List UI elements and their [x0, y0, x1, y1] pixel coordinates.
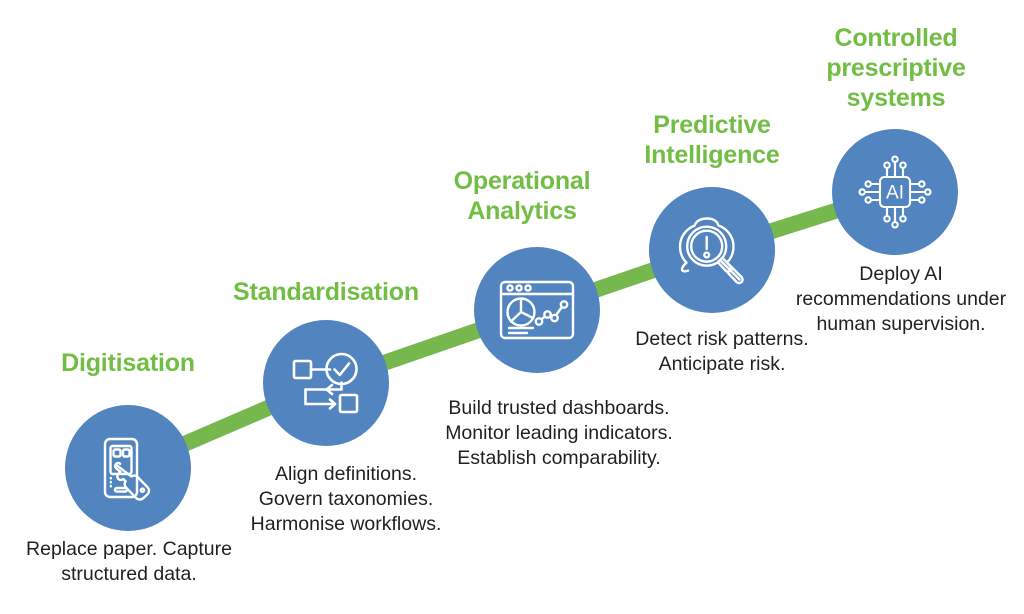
stage-5-circle[interactable]: AI	[832, 129, 958, 255]
smartphone-tap-icon	[91, 431, 165, 505]
stage-3-circle[interactable]	[474, 247, 600, 373]
maturity-staircase-diagram: Digitisation Replace paper. Capture stru…	[0, 0, 1024, 614]
dashboard-chart-icon	[497, 277, 577, 343]
ai-chip-icon: AI	[855, 152, 935, 232]
stage-4-circle[interactable]	[649, 187, 775, 313]
stage-5-heading: Controlled prescriptive systems	[810, 23, 982, 113]
stage-5-caption: Deploy AI recommendations under human su…	[790, 262, 1012, 337]
workflow-check-icon	[288, 348, 364, 418]
stage-3-caption: Build trusted dashboards. Monitor leadin…	[424, 396, 694, 471]
svg-text:AI: AI	[886, 183, 904, 204]
stage-2-caption: Align definitions. Govern taxonomies. Ha…	[234, 462, 458, 537]
stage-1-circle[interactable]	[65, 405, 191, 531]
stage-3-heading: Operational Analytics	[440, 166, 604, 226]
magnifier-alert-icon	[676, 213, 748, 287]
stage-4-heading: Predictive Intelligence	[622, 110, 802, 170]
stage-1-heading: Digitisation	[28, 348, 228, 378]
stage-2-circle[interactable]	[263, 320, 389, 446]
stage-2-heading: Standardisation	[224, 277, 428, 307]
stage-1-caption: Replace paper. Capture structured data.	[18, 537, 240, 587]
